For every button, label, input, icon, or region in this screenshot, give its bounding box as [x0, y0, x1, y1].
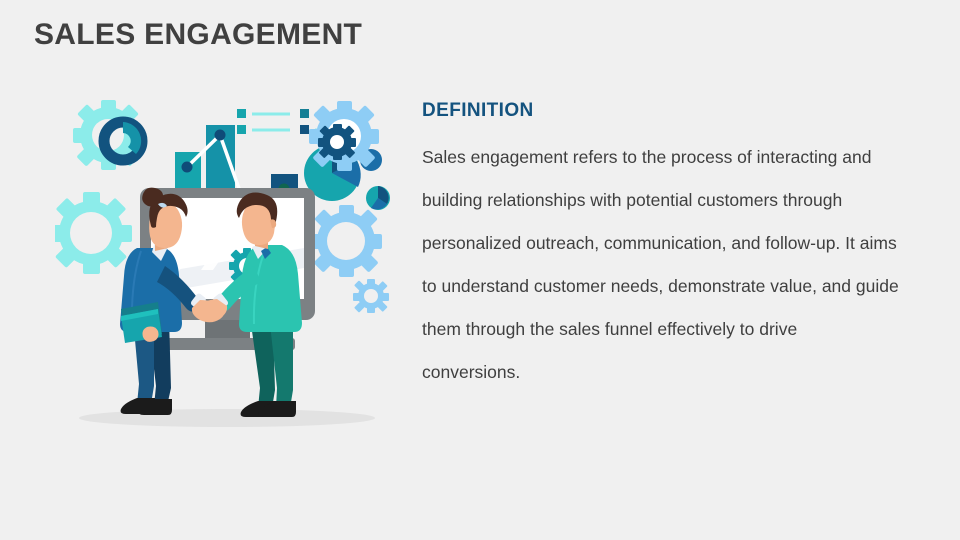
- gear-small-right-icon: [353, 279, 389, 313]
- gear-bottom-right-icon: [310, 205, 382, 277]
- small-pie-chart-icon: [366, 186, 390, 210]
- gear-bottom-left-icon: [55, 192, 132, 274]
- trend-point-2: [215, 130, 226, 141]
- trend-point-1: [182, 162, 193, 173]
- legend-swatch-3: [237, 125, 246, 134]
- definition-body-text: Sales engagement refers to the process o…: [422, 136, 900, 394]
- woman-hand-lower: [143, 327, 159, 342]
- definition-heading: DEFINITION: [422, 100, 922, 122]
- legend-swatch-1: [237, 109, 246, 118]
- woman-shoe-front: [121, 398, 155, 414]
- gear-top-right-inner-icon: [318, 124, 356, 160]
- sales-handshake-analytics-illustration: [55, 88, 405, 448]
- definition-block: DEFINITION Sales engagement refers to th…: [422, 100, 922, 394]
- page-title: SALES ENGAGEMENT: [34, 18, 362, 52]
- slide-root: SALES ENGAGEMENT: [0, 0, 960, 540]
- legend-swatch-2: [300, 109, 309, 118]
- legend-swatch-4: [300, 125, 309, 134]
